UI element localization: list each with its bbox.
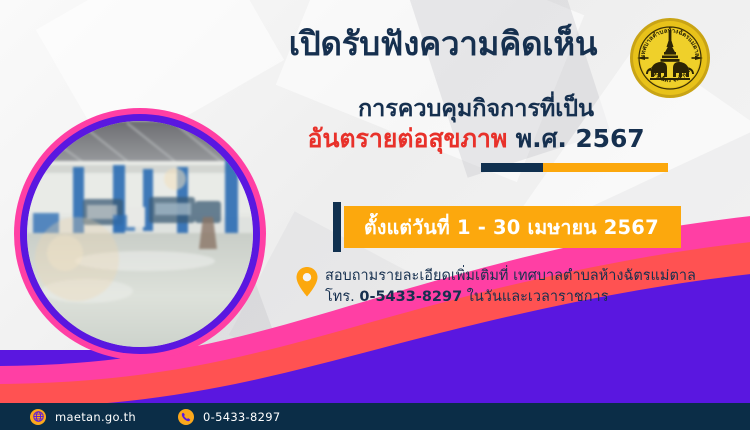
workshop-photo (27, 121, 253, 347)
phone-icon (178, 409, 194, 425)
footer-website[interactable]: maetan.go.th (30, 409, 136, 425)
photo-frame (14, 108, 266, 360)
date-badge-accent (333, 202, 341, 252)
divider-bar (481, 163, 668, 172)
contact-phone-suffix: ในวันและเวลาราชการ (462, 289, 608, 305)
footer-bar: maetan.go.th 0-5433-8297 (0, 403, 750, 430)
page-title: เปิดรับฟังความคิดเห็น (258, 26, 628, 63)
date-badge-body: ตั้งแต่วันที่ 1 - 30 เมษายน 2567 (344, 206, 681, 248)
location-pin-icon (296, 267, 318, 297)
footer-website-label: maetan.go.th (55, 410, 136, 424)
subtitle-line-2: อันตรายต่อสุขภาพ พ.ศ. 2567 (290, 124, 662, 155)
municipality-seal: เทศบาลตำบลห้างฉัตรแม่ตาล อ.ห้างฉัตร จ.ลำ… (628, 16, 712, 100)
announcement-banner: เทศบาลตำบลห้างฉัตรแม่ตาล อ.ห้างฉัตร จ.ลำ… (0, 0, 750, 430)
contact-phone-prefix: โทร. (325, 289, 359, 305)
subtitle-year: พ.ศ. 2567 (507, 124, 644, 153)
contact-block: สอบถามรายละเอียดเพิ่มเติมที่ เทศบาลตำบลห… (296, 266, 696, 307)
footer-phone-label: 0-5433-8297 (203, 410, 280, 424)
subtitle-block: การควบคุมกิจการที่เป็น อันตรายต่อสุขภาพ … (290, 94, 662, 154)
contact-phone-number: 0-5433-8297 (359, 289, 462, 305)
contact-line-1: สอบถามรายละเอียดเพิ่มเติมที่ เทศบาลตำบลห… (325, 266, 696, 287)
subtitle-line-1: การควบคุมกิจการที่เป็น (290, 94, 662, 123)
globe-icon (30, 409, 46, 425)
subtitle-highlight: อันตรายต่อสุขภาพ (307, 124, 507, 153)
contact-text: สอบถามรายละเอียดเพิ่มเติมที่ เทศบาลตำบลห… (325, 266, 696, 307)
date-badge-label: ตั้งแต่วันที่ 1 - 30 เมษายน 2567 (364, 212, 659, 243)
contact-line-2: โทร. 0-5433-8297 ในวันและเวลาราชการ (325, 287, 696, 308)
footer-phone[interactable]: 0-5433-8297 (178, 409, 280, 425)
